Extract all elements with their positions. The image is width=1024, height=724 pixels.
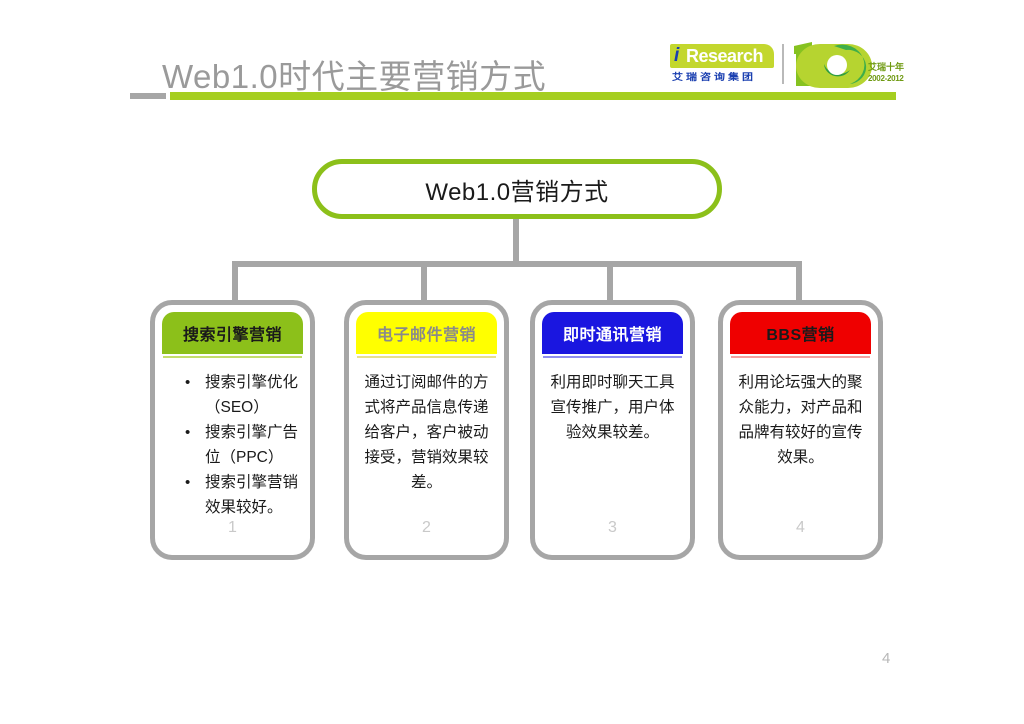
list-item: 搜索引擎广告位（PPC） <box>185 420 300 470</box>
card-body: 搜索引擎优化（SEO） 搜索引擎广告位（PPC） 搜索引擎营销效果较好。 <box>155 358 310 520</box>
connector-branch-2 <box>421 261 427 305</box>
card-instant-messaging-marketing[interactable]: 即时通讯营销 利用即时聊天工具宣传推广，用户体验效果较差。 3 <box>530 300 695 560</box>
page-number: 4 <box>882 650 890 667</box>
connector-branch-4 <box>796 261 802 305</box>
card-email-marketing[interactable]: 电子邮件营销 通过订阅邮件的方式将产品信息传递给客户，客户被动接受，营销效果较差… <box>344 300 509 560</box>
root-node[interactable]: Web1.0营销方式 <box>312 159 722 219</box>
card-title: BBS营销 <box>766 321 834 345</box>
card-header: 搜索引擎营销 <box>162 312 303 354</box>
card-header: 即时通讯营销 <box>542 312 683 354</box>
card-index: 1 <box>155 519 310 537</box>
card-title: 搜索引擎营销 <box>183 321 282 345</box>
card-title: 即时通讯营销 <box>563 321 662 345</box>
list-item: 搜索引擎优化（SEO） <box>185 370 300 420</box>
connector-horizontal-bus <box>232 261 802 267</box>
card-body: 利用论坛强大的聚众能力，对产品和品牌有较好的宣传效果。 <box>723 358 878 470</box>
card-bbs-marketing[interactable]: BBS营销 利用论坛强大的聚众能力，对产品和品牌有较好的宣传效果。 4 <box>718 300 883 560</box>
card-title: 电子邮件营销 <box>377 321 476 345</box>
connector-branch-1 <box>232 261 238 305</box>
card-index: 4 <box>723 519 878 537</box>
card-bullet-list: 搜索引擎优化（SEO） 搜索引擎广告位（PPC） 搜索引擎营销效果较好。 <box>165 370 300 520</box>
card-header: 电子邮件营销 <box>356 312 497 354</box>
card-body: 通过订阅邮件的方式将产品信息传递给客户，客户被动接受，营销效果较差。 <box>349 358 504 495</box>
card-index: 2 <box>349 519 504 537</box>
org-chart-diagram: Web1.0营销方式 搜索引擎营销 搜索引擎优化（SEO） 搜索引擎广告位（PP… <box>0 0 1024 724</box>
root-node-label: Web1.0营销方式 <box>425 172 608 207</box>
connector-branch-3 <box>607 261 613 305</box>
card-search-engine-marketing[interactable]: 搜索引擎营销 搜索引擎优化（SEO） 搜索引擎广告位（PPC） 搜索引擎营销效果… <box>150 300 315 560</box>
card-header: BBS营销 <box>730 312 871 354</box>
card-body: 利用即时聊天工具宣传推广，用户体验效果较差。 <box>535 358 690 445</box>
list-item: 搜索引擎营销效果较好。 <box>185 470 300 520</box>
card-index: 3 <box>535 519 690 537</box>
connector-root-stem <box>513 219 519 267</box>
